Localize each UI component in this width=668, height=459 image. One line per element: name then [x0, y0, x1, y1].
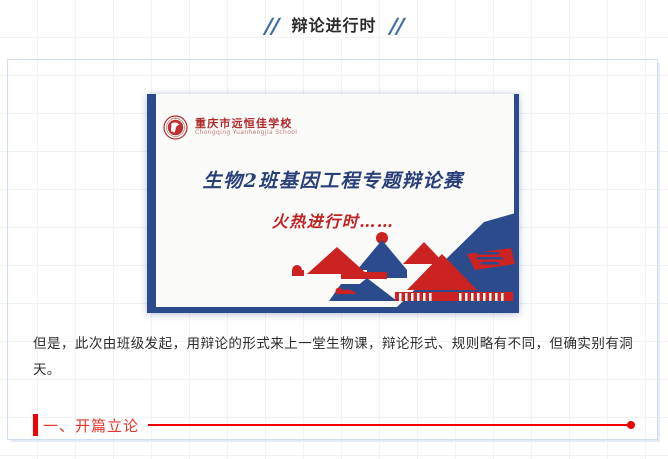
section-heading: 一、开篇立论 — [33, 410, 635, 440]
campus-skyline-graphic — [279, 212, 519, 307]
section-heading-label: 一、开篇立论 — [38, 415, 148, 436]
school-emblem-icon — [163, 115, 188, 140]
slide-title: 生物2班基因工程专题辩论赛 — [147, 166, 519, 193]
page-header: // 辩论进行时 // — [0, 0, 668, 52]
section-end-dot-icon — [627, 421, 635, 429]
slide-bottom-bar — [147, 307, 519, 313]
slide-left-bar — [147, 94, 156, 313]
page-title: 辩论进行时 — [291, 18, 376, 34]
school-logo-text: 重庆市远恒佳学校 Chongqing Yuanhengjia School — [195, 118, 297, 136]
header-right-slashes-icon: // — [389, 16, 403, 37]
section-divider-line — [148, 424, 628, 426]
header-left-slashes-icon: // — [265, 16, 279, 37]
school-name-en: Chongqing Yuanhengjia School — [195, 130, 297, 137]
school-logo: 重庆市远恒佳学校 Chongqing Yuanhengjia School — [163, 115, 297, 140]
slide-image: 重庆市远恒佳学校 Chongqing Yuanhengjia School 生物… — [147, 94, 519, 313]
body-paragraph: 但是，此次由班级发起，用辩论的形式来上一堂生物课，辩论形式、规则略有不同，但确实… — [33, 331, 633, 383]
